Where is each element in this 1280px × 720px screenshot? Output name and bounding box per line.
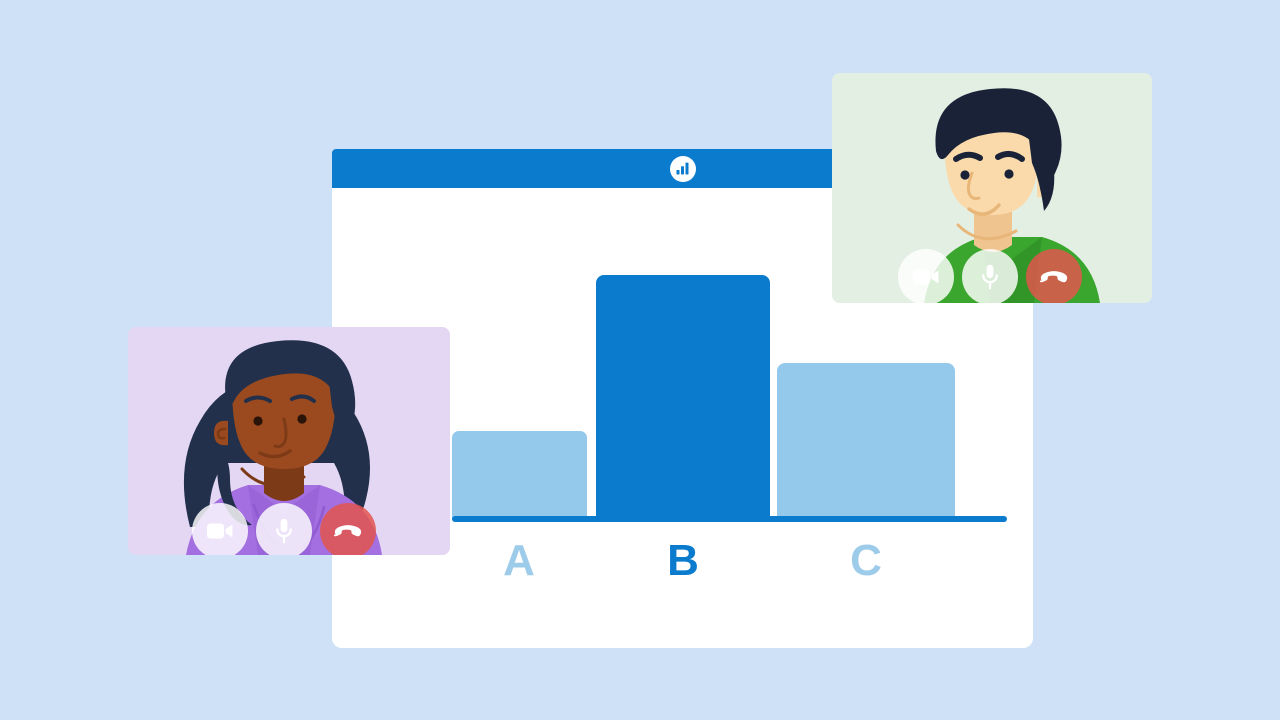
microphone-button[interactable]: [962, 249, 1018, 303]
video-tile-participant-2[interactable]: [128, 327, 450, 555]
phone-hangup-icon: [1040, 270, 1068, 284]
camera-button[interactable]: [898, 249, 954, 303]
microphone-button[interactable]: [256, 503, 312, 555]
axis-tick-label-a: A: [479, 536, 559, 586]
camera-button[interactable]: [192, 503, 248, 555]
end-call-button[interactable]: [320, 503, 376, 555]
video-camera-icon: [207, 522, 233, 540]
bar-category-a: [452, 431, 587, 518]
chart-axis-line: [452, 516, 1007, 522]
bar-chart-icon: [670, 156, 696, 182]
microphone-icon: [275, 518, 293, 544]
axis-tick-label-b: B: [643, 536, 723, 586]
end-call-button[interactable]: [1026, 249, 1082, 303]
video-tile-participant-1[interactable]: [832, 73, 1152, 303]
participant-2-call-controls: [192, 503, 376, 555]
microphone-icon: [981, 264, 999, 290]
phone-hangup-icon: [334, 524, 362, 538]
participant-1-call-controls: [898, 249, 1082, 303]
bar-category-c: [777, 363, 955, 518]
bar-category-b: [596, 275, 770, 518]
scene-root: A B C: [0, 0, 1280, 720]
video-camera-icon: [913, 268, 939, 286]
axis-tick-label-c: C: [826, 536, 906, 586]
